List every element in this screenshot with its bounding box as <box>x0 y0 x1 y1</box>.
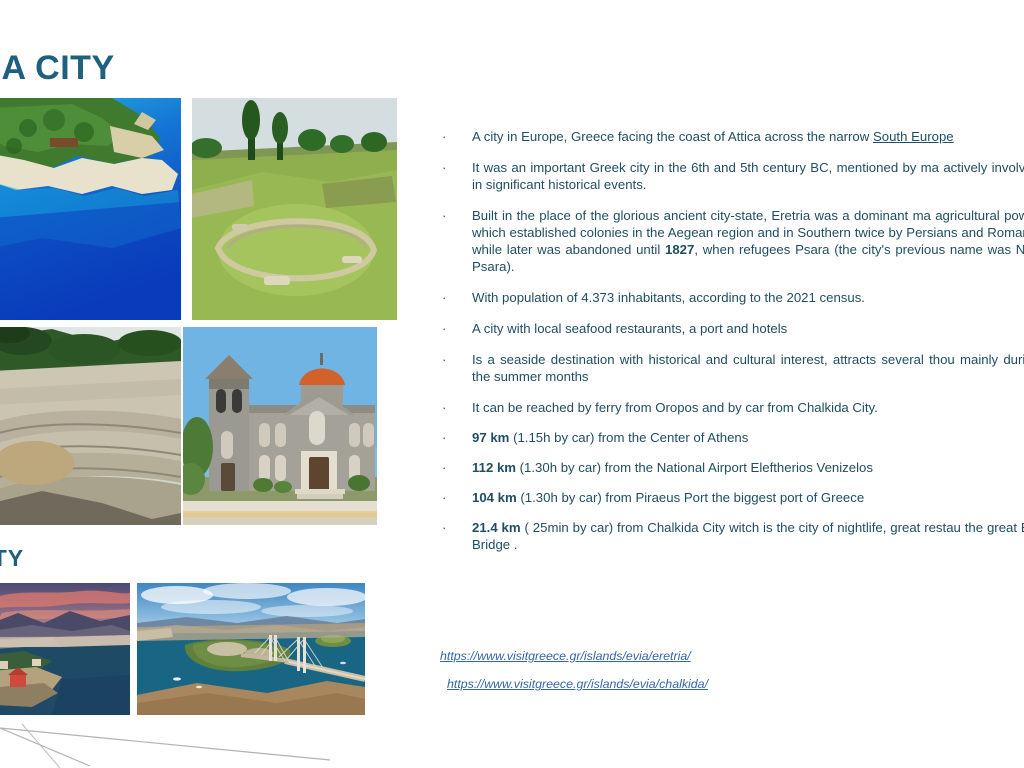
list-item: · 104 km (1.30h by car) from Piraeus Por… <box>440 489 1024 506</box>
source-links: https://www.visitgreece.gr/islands/evia/… <box>440 648 960 704</box>
photo-eretria-church <box>183 327 377 525</box>
bullet-marker: · <box>442 399 446 416</box>
link-chalkida[interactable]: https://www.visitgreece.gr/islands/evia/… <box>440 676 960 692</box>
decorative-lines <box>0 720 340 768</box>
list-item: · It can be reached by ferry from Oropos… <box>440 399 1024 416</box>
bullet-marker: · <box>442 207 446 224</box>
bullet-text: With population of 4.373 inhabitants, ac… <box>472 290 865 305</box>
description-bullet-list: · A city in Europe, Greece facing the co… <box>440 128 1024 567</box>
bullet-segment: A city in Europe, Greece facing the coas… <box>472 129 873 144</box>
bullet-segment-bold: 1827 <box>665 242 694 257</box>
slide-canvas: ETRIA CITY <box>0 0 1024 768</box>
bullet-segment: (1.15h by car) from the Center of Athens <box>509 430 748 445</box>
eretria-aerial-coast-icon <box>0 98 181 320</box>
page-title-eretria: ETRIA CITY <box>0 48 115 88</box>
list-item: · A city with local seafood restaurants,… <box>440 320 1024 337</box>
chalkida-sunset-icon <box>0 583 130 715</box>
bullet-text: 104 km (1.30h by car) from Piraeus Port … <box>472 490 864 505</box>
bullet-text: 112 km (1.30h by car) from the National … <box>472 460 873 475</box>
list-item: · A city in Europe, Greece facing the co… <box>440 128 1024 145</box>
list-item: · It was an important Greek city in the … <box>440 159 1024 193</box>
list-item: · Is a seaside destination with historic… <box>440 351 1024 385</box>
eretria-theatre-icon <box>0 327 181 525</box>
photo-chalkida-sunset <box>0 583 130 715</box>
bullet-marker: · <box>442 320 446 337</box>
distance-value: 97 km <box>472 430 509 445</box>
bullet-marker: · <box>442 519 446 536</box>
bullet-marker: · <box>442 351 446 368</box>
bullet-marker: · <box>442 489 446 506</box>
eretria-church-icon <box>183 327 377 525</box>
list-item: · 112 km (1.30h by car) from the Nationa… <box>440 459 1024 476</box>
page-title-chalkida: DA CITY <box>0 544 24 572</box>
bullet-marker: · <box>442 289 446 306</box>
photo-chalkida-bridge <box>137 583 365 715</box>
bullet-text: Is a seaside destination with historical… <box>472 352 1024 384</box>
distance-value: 112 km <box>472 460 516 475</box>
link-eretria[interactable]: https://www.visitgreece.gr/islands/evia/… <box>440 648 960 664</box>
bullet-text: It can be reached by ferry from Oropos a… <box>472 400 878 415</box>
bullet-marker: · <box>442 128 446 145</box>
bullet-text: Built in the place of the glorious ancie… <box>472 208 1024 274</box>
chalkida-bridge-icon <box>137 583 365 715</box>
bullet-text: It was an important Greek city in the 6t… <box>472 160 1024 192</box>
bullet-marker: · <box>442 459 446 476</box>
list-item: · 97 km (1.15h by car) from the Center o… <box>440 429 1024 446</box>
bullet-marker: · <box>442 159 446 176</box>
bullet-text: A city in Europe, Greece facing the coas… <box>472 129 954 144</box>
bullet-text: 97 km (1.15h by car) from the Center of … <box>472 430 748 445</box>
photo-eretria-ancient-ruins <box>192 98 397 320</box>
distance-value: 21.4 km <box>472 520 521 535</box>
bullet-segment: It was an important Greek city in the 6t… <box>472 160 939 175</box>
list-item: · Built in the place of the glorious anc… <box>440 207 1024 275</box>
bullet-segment: (1.30h by car) from the National Airport… <box>516 460 873 475</box>
bullet-segment-link[interactable]: South Europe <box>873 129 954 144</box>
list-item: · 21.4 km ( 25min by car) from Chalkida … <box>440 519 1024 553</box>
eretria-ruins-icon <box>192 98 397 320</box>
bullet-segment: (1.30h by car) from Piraeus Port the big… <box>517 490 864 505</box>
bullet-marker: · <box>442 429 446 446</box>
list-item: · With population of 4.373 inhabitants, … <box>440 289 1024 306</box>
photo-eretria-aerial-coast <box>0 98 181 320</box>
bullet-text: A city with local seafood restaurants, a… <box>472 321 787 336</box>
distance-value: 104 km <box>472 490 517 505</box>
bullet-segment: ( 25min by car) from Chalkida City witch… <box>472 520 1024 552</box>
photo-eretria-theatre <box>0 327 181 525</box>
bullet-text: 21.4 km ( 25min by car) from Chalkida Ci… <box>472 520 1024 552</box>
